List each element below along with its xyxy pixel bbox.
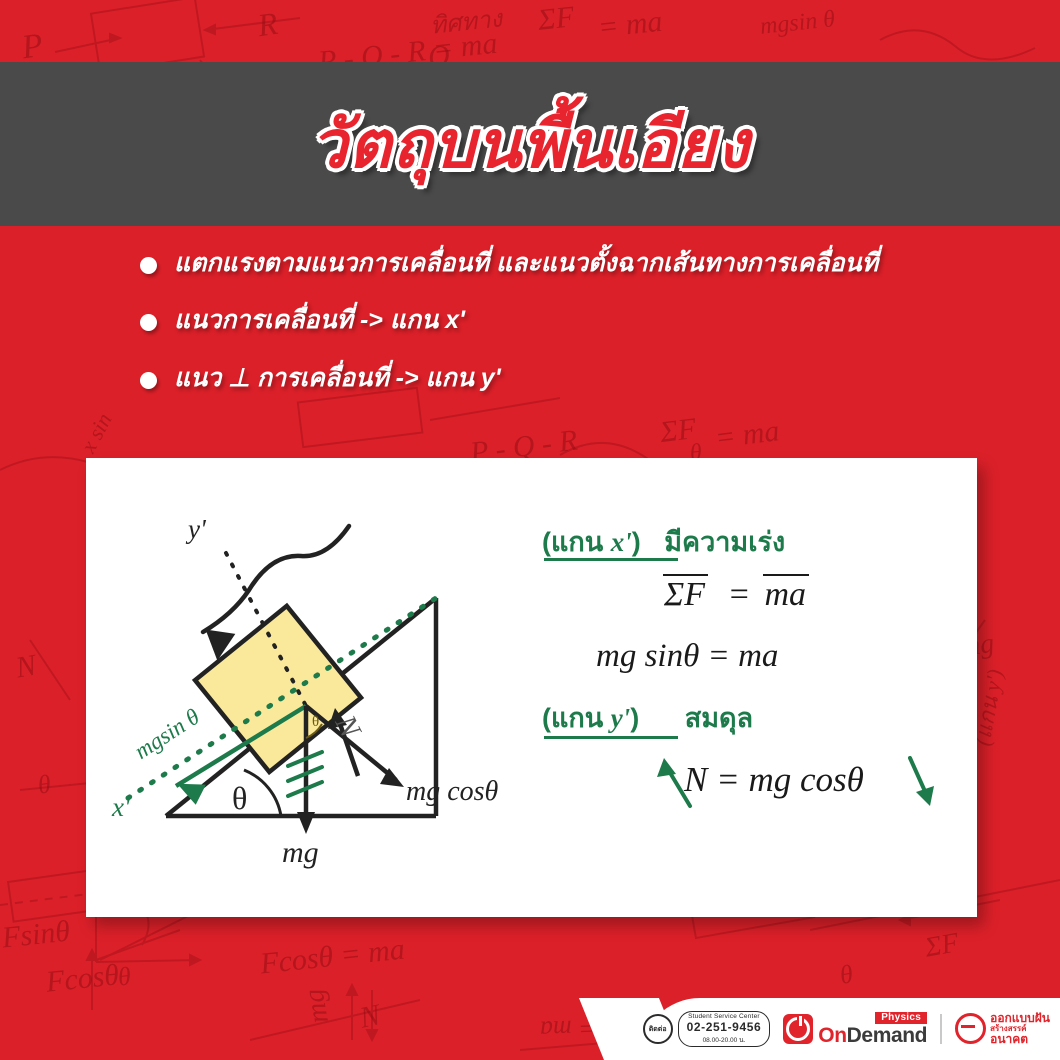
footer-divider [940, 1014, 942, 1044]
diagram-svg [106, 498, 536, 888]
y-axis-symbol: y' [611, 703, 631, 733]
tagline-line-3: อนาคต [990, 1033, 1050, 1046]
x-axis-heading-prefix: (แกน [542, 527, 611, 557]
diagram-label-weight: mg [282, 836, 319, 870]
content-card: y' x' mgsin θ N mg mg cosθ θ θ (แกน x') … [86, 458, 977, 917]
x-axis-heading-underline [544, 558, 678, 561]
x-axis-heading: (แกน x') มีความเร่ง [542, 520, 785, 563]
equals-sign-1: = [727, 576, 750, 613]
tagline-text: ออกแบบฝัน สร้างสรรค์ อนาคต [990, 1012, 1050, 1046]
tagline-line-1: ออกแบบฝัน [990, 1012, 1050, 1025]
footer-bar: ติดต่อ Student Service Center 02-251-945… [0, 998, 1060, 1060]
footer-content: ติดต่อ Student Service Center 02-251-945… [643, 1004, 1050, 1054]
bullet-text: แนวการเคลื่อนที่ -> แกน x' [174, 305, 465, 336]
x-axis-note: มีความเร่ง [664, 527, 785, 557]
diagram-label-mg-cos-theta: mg cosθ [406, 776, 498, 808]
phone-oval: Student Service Center 02-251-9456 08.00… [678, 1011, 771, 1047]
power-icon [783, 1014, 813, 1044]
y-axis-note: สมดุล [685, 703, 753, 733]
service-center-hours: 08.00-20.00 น. [687, 1035, 762, 1045]
power-glyph [786, 1017, 810, 1041]
bullet-text: แนว ⊥ การเคลื่อนที่ -> แกน y' [174, 363, 501, 394]
list-item: แนว ⊥ การเคลื่อนที่ -> แกน y' [140, 363, 1040, 394]
mass-acceleration-vector: ma [764, 576, 806, 614]
watermark-text: θ [116, 961, 132, 992]
equation-block: (แกน x') มีความเร่ง ΣF =ma mg sinθ = ma … [538, 498, 958, 888]
inclined-plane-diagram: y' x' mgsin θ N mg mg cosθ θ θ [106, 498, 536, 888]
x-axis-symbol: x' [611, 527, 632, 557]
list-item: แนวการเคลื่อนที่ -> แกน x' [140, 305, 1040, 336]
slide-root: PRΣF= maP - Q - R = maทิศทางmgsin θQΣF= … [0, 0, 1060, 1060]
bullet-text: แตกแรงตามแนวการเคลื่อนที่ และแนวตั้งฉากเ… [174, 248, 878, 279]
brand-category: Physics [875, 1012, 927, 1024]
y-axis-heading-underline [544, 736, 678, 739]
watermark-text: ΣF [536, 0, 576, 38]
watermark-text: Fsinθ [0, 915, 71, 956]
mg-sin-equation: mg sinθ = ma [596, 638, 778, 675]
bullet-dot-icon [140, 314, 157, 331]
title-bar: วัตถุบนพื้นเอียง [0, 62, 1060, 226]
diagram-label-x-axis: x' [112, 792, 130, 823]
service-center-phone: 02-251-9456 [687, 1020, 762, 1034]
watermark-text: ทิศทาง [428, 0, 504, 45]
bullet-dot-icon [140, 372, 157, 389]
phone-badge-icon: ติดต่อ [643, 1014, 673, 1044]
tagline-swirl-icon [955, 1013, 986, 1044]
newton-second-law-equation: ΣF =ma [664, 576, 806, 614]
phone-badge-text: ติดต่อ [649, 1024, 667, 1035]
list-item: แตกแรงตามแนวการเคลื่อนที่ และแนวตั้งฉากเ… [140, 248, 1040, 279]
y-axis-heading: (แกน y') สมดุล [542, 696, 753, 739]
diagram-label-incline-angle: θ [232, 780, 247, 817]
sum-force-vector: ΣF [664, 576, 705, 614]
x-axis-heading-suffix: ) [632, 527, 641, 557]
brand-name: OnDemand [818, 1025, 927, 1046]
student-service-center[interactable]: ติดต่อ Student Service Center 02-251-945… [643, 1011, 771, 1047]
brand-name-second: Demand [847, 1024, 927, 1047]
equation-pointer-arrows [538, 742, 958, 862]
diagram-label-y-axis: y' [188, 514, 206, 545]
diagram-label-block-angle: θ [312, 714, 319, 731]
y-axis-heading-suffix: ) [630, 703, 639, 733]
bullet-list: แตกแรงตามแนวการเคลื่อนที่ และแนวตั้งฉากเ… [140, 248, 1040, 420]
watermark-text: ΣF [922, 927, 961, 964]
tagline-logo: ออกแบบฝัน สร้างสรรค์ อนาคต [955, 1012, 1050, 1046]
page-title: วัตถุบนพื้นเอียง [310, 92, 750, 197]
ondemand-wordmark: Physics OnDemand [818, 1012, 927, 1046]
service-center-label: Student Service Center [687, 1013, 762, 1020]
brand-name-first: On [818, 1024, 846, 1047]
y-axis-heading-prefix: (แกน [542, 703, 611, 733]
watermark-text: = ma [596, 5, 664, 46]
ondemand-logo[interactable]: Physics OnDemand [783, 1012, 927, 1046]
bullet-dot-icon [140, 257, 157, 274]
